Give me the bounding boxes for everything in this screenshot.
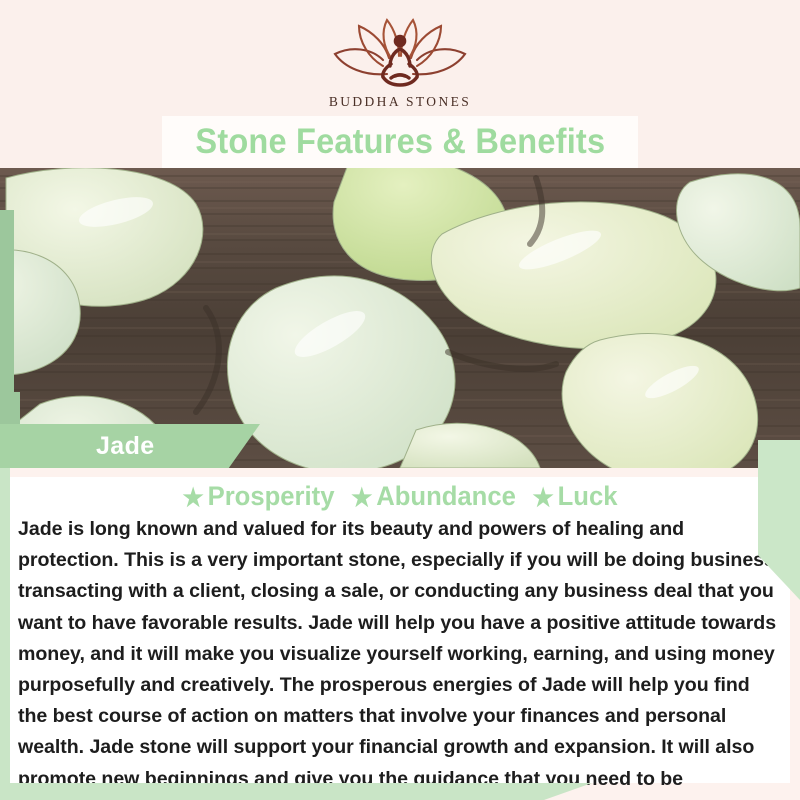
photo-illustration: [0, 168, 800, 468]
content-card: ★Prosperity ★Abundance ★Luck Jade is lon…: [10, 477, 790, 783]
lotus-meditating-figure-icon: [325, 14, 475, 92]
page-title: Stone Features & Benefits: [195, 122, 605, 162]
benefit-item: ★Abundance: [351, 481, 516, 513]
benefit-label: Prosperity: [208, 481, 335, 511]
brand-wordmark: BUDDHA STONES: [280, 94, 520, 110]
stone-name-banner: Jade: [0, 424, 260, 468]
benefit-item: ★Luck: [533, 481, 618, 513]
stone-description: Jade is long known and valued for its be…: [18, 514, 784, 800]
brand-logo: BUDDHA STONES: [280, 14, 520, 110]
content-section: ★Prosperity ★Abundance ★Luck Jade is lon…: [0, 468, 800, 800]
jade-stones-photo: [0, 168, 800, 468]
stone-features-infographic: BUDDHA STONES: [0, 0, 800, 800]
star-icon: ★: [533, 484, 554, 512]
benefit-label: Abundance: [376, 481, 516, 511]
star-icon: ★: [182, 484, 203, 512]
title-band: Stone Features & Benefits: [162, 116, 638, 168]
decor-bar-left-lower: [0, 468, 10, 783]
benefits-row: ★Prosperity ★Abundance ★Luck: [30, 477, 771, 513]
stone-name-label: Jade: [96, 432, 155, 461]
benefit-label: Luck: [558, 481, 618, 511]
benefit-item: ★Prosperity: [182, 481, 334, 513]
star-icon: ★: [351, 484, 372, 512]
